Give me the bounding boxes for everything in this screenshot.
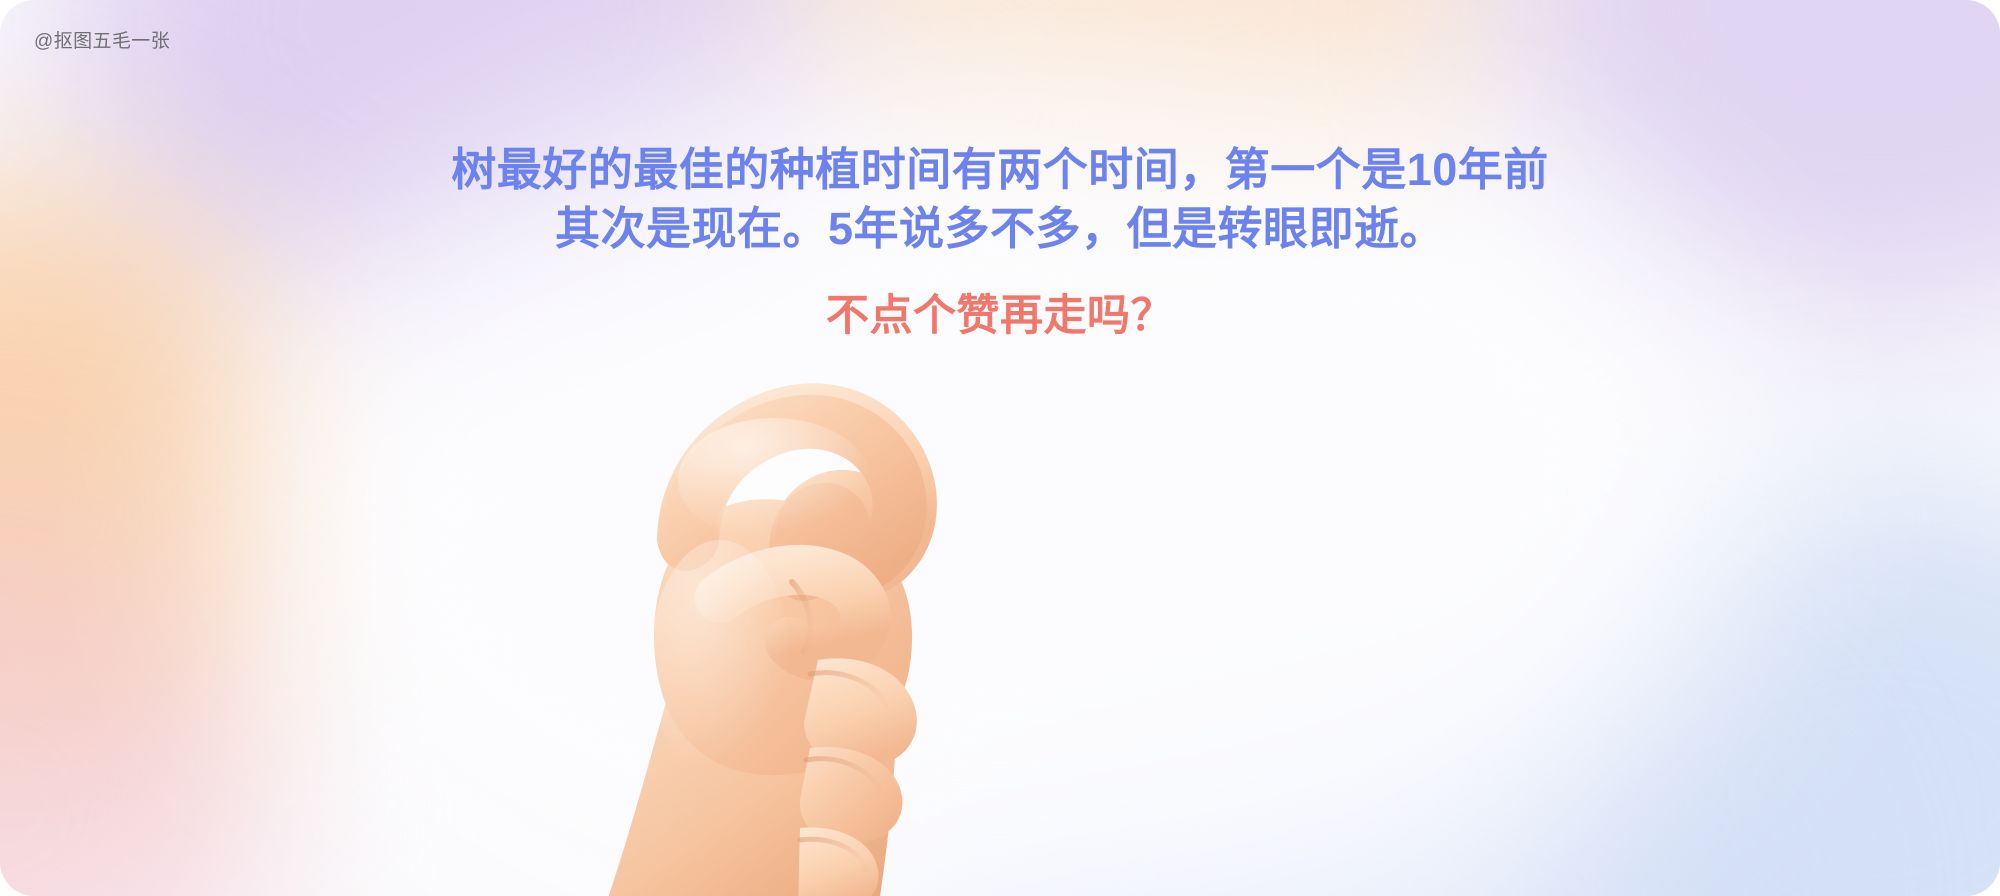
headline-line-2: 其次是现在。5年说多不多，但是转眼即逝。 — [240, 199, 1760, 258]
cta-text: 不点个赞再走吗？ — [240, 288, 1760, 344]
headline-line-1: 树最好的最佳的种植时间有两个时间，第一个是10年前 — [240, 140, 1760, 199]
poster-canvas: @抠图五毛一张 树最好的最佳的种植时间有两个时间，第一个是10年前 其次是现在。… — [0, 0, 2000, 896]
background-card — [0, 0, 2000, 896]
watermark-label: @抠图五毛一张 — [34, 30, 170, 54]
text-block: 树最好的最佳的种植时间有两个时间，第一个是10年前 其次是现在。5年说多不多，但… — [0, 140, 2000, 344]
finger-heart-hand-icon — [560, 330, 980, 896]
